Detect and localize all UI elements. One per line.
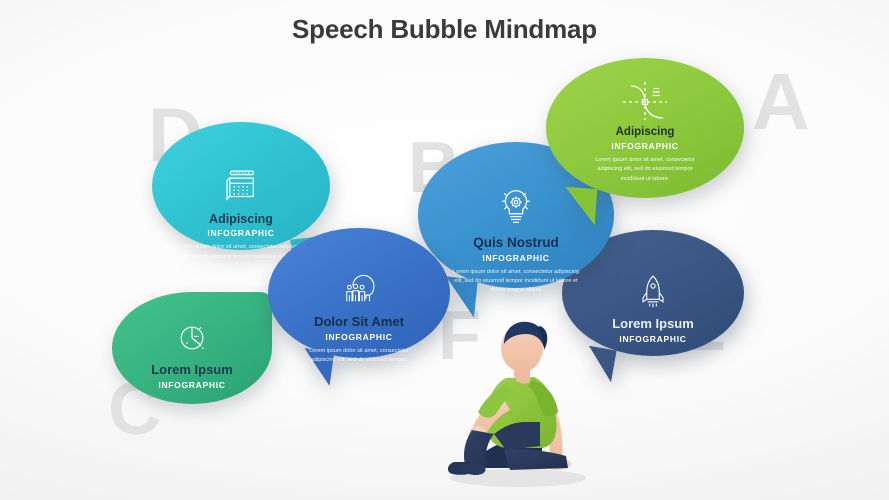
bubble-title: Quis Nostrud bbox=[432, 235, 600, 251]
bubble-title: Adipiscing bbox=[166, 212, 316, 226]
calendar-icon bbox=[166, 165, 316, 207]
bubble-adipiscing-green[interactable]: Adipiscing INFOGRAPHIC Lorem ipsum dolor… bbox=[546, 58, 744, 198]
graph-curve-icon bbox=[546, 78, 744, 126]
bubble-lorem-green[interactable]: Lorem Ipsum INFOGRAPHIC bbox=[112, 292, 272, 404]
bubble-title: Dolor Sit Amet bbox=[282, 315, 436, 330]
infographic-canvas: D B A C F E Speech Bubble Mindmap bbox=[0, 0, 889, 500]
pie-chart-icon bbox=[126, 318, 258, 358]
bubble-content: Adipiscing INFOGRAPHIC Lorem ipsum dolor… bbox=[546, 126, 744, 184]
bubble-description: Lorem ipsum dolor sit amet, consectetur … bbox=[585, 156, 705, 184]
bubble-subtitle: INFOGRAPHIC bbox=[282, 332, 436, 342]
team-head-icon bbox=[282, 268, 436, 310]
seated-man-illustration bbox=[418, 300, 608, 500]
bubble-subtitle: INFOGRAPHIC bbox=[126, 380, 258, 390]
bubble-subtitle: INFOGRAPHIC bbox=[432, 253, 600, 263]
bubble-content: Lorem Ipsum INFOGRAPHIC bbox=[112, 318, 272, 395]
bubble-description: Lorem ipsum dolor sit amet, consectetur … bbox=[300, 347, 418, 365]
bubble-description: Lorem ipsum dolor sit amet, consectetur … bbox=[448, 268, 584, 296]
watermark-letter-a: A bbox=[752, 62, 810, 142]
bubble-title: Adipiscing bbox=[560, 126, 730, 139]
bubble-subtitle: INFOGRAPHIC bbox=[560, 141, 730, 151]
page-title: Speech Bubble Mindmap bbox=[0, 14, 889, 45]
bubble-title: Lorem Ipsum bbox=[126, 363, 258, 378]
bubble-tail bbox=[563, 187, 597, 225]
